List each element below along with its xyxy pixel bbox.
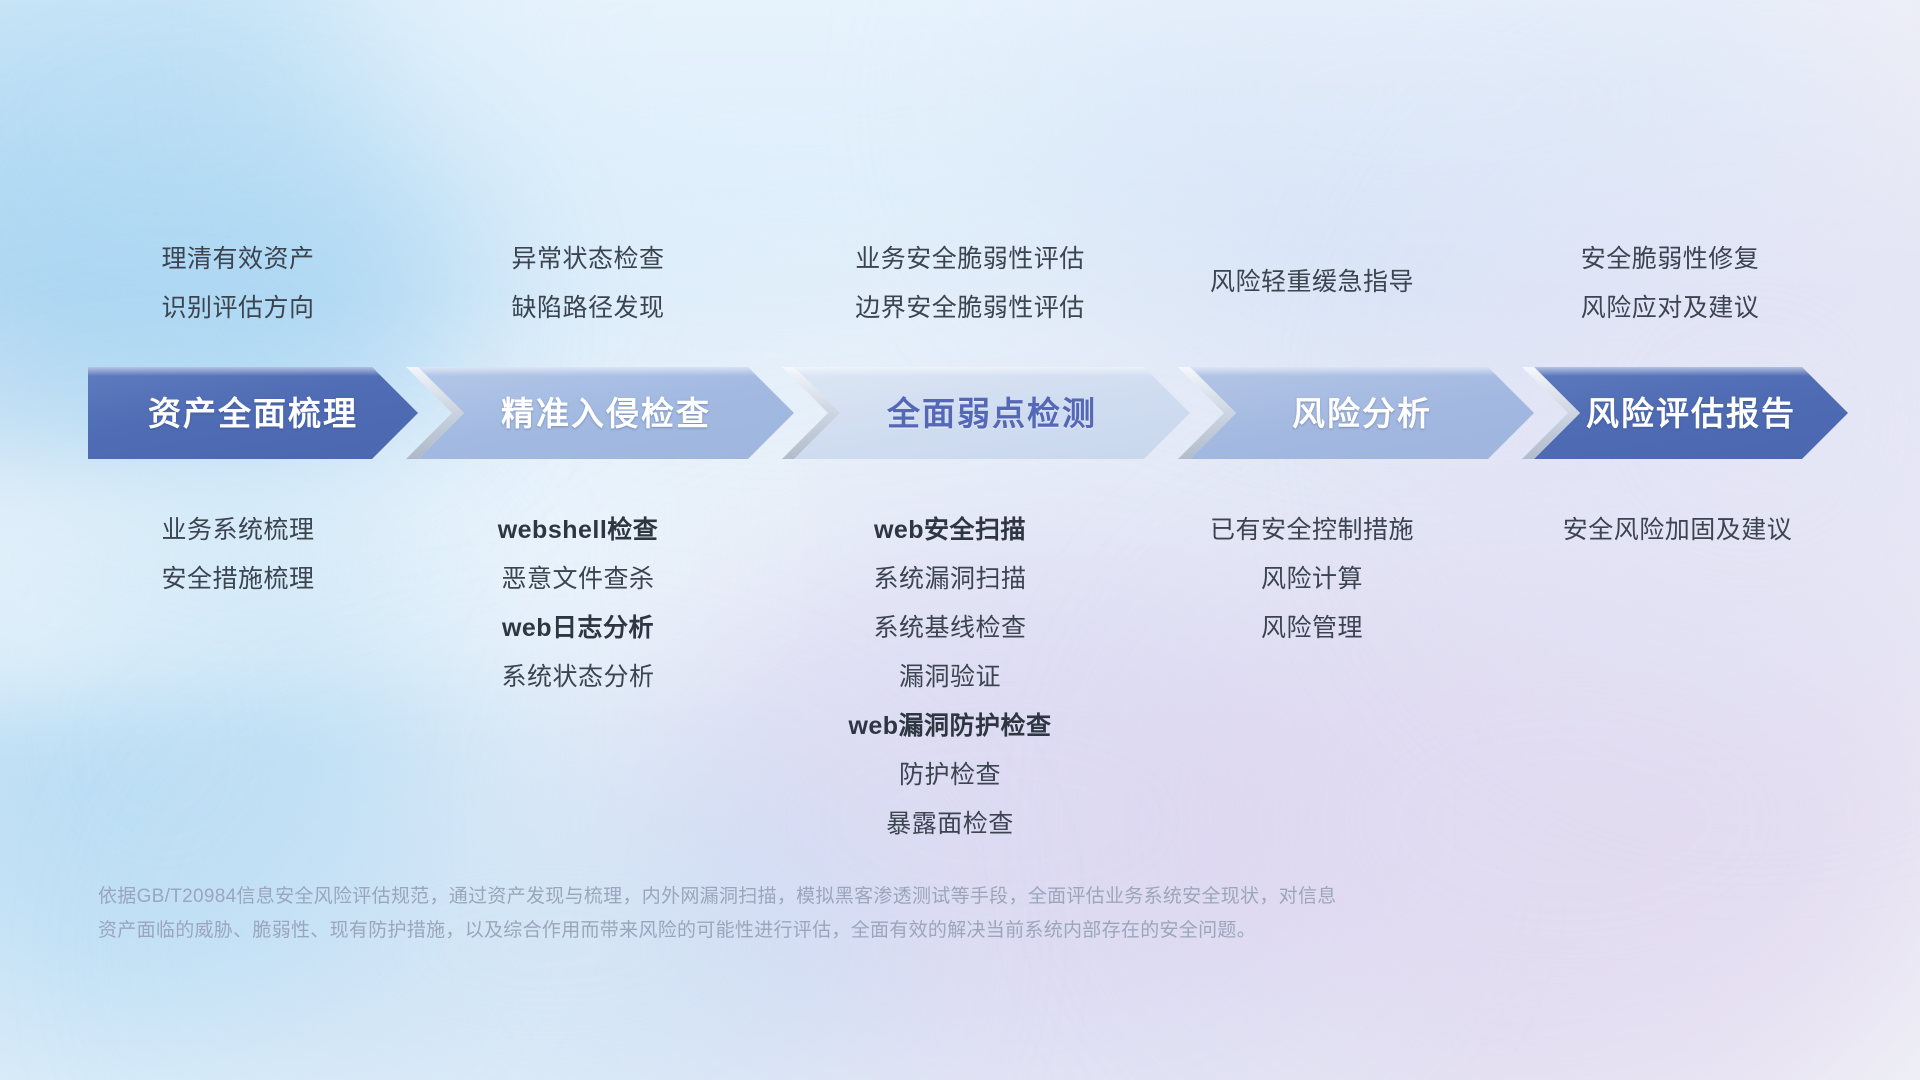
stage-chevron-4[interactable]: 风险分析 xyxy=(1190,367,1534,459)
stage-bottom-items-1: 业务系统梳理 安全措施梳理 xyxy=(88,518,388,592)
stage-label: 风险评估报告 xyxy=(1586,397,1796,430)
top-item: 业务安全脆弱性评估 xyxy=(790,247,1150,272)
stage-bottom-items-4: 已有安全控制措施 风险计算 风险管理 xyxy=(1152,518,1472,641)
bottom-item: 安全风险加固及建议 xyxy=(1505,518,1850,543)
process-chevron-band: 资产全面梳理 精准入侵检查 xyxy=(88,367,1848,459)
bottom-item: web漏洞防护检查 xyxy=(770,714,1130,739)
stage-chevron-5[interactable]: 风险评估报告 xyxy=(1534,367,1848,459)
bottom-item: 风险计算 xyxy=(1152,567,1472,592)
bottom-item: web安全扫描 xyxy=(770,518,1130,543)
chevron-gloss xyxy=(1534,367,1848,376)
top-item: 边界安全脆弱性评估 xyxy=(790,296,1150,321)
stage-label: 资产全面梳理 xyxy=(148,397,358,430)
stage-chevron-3[interactable]: 全面弱点检测 xyxy=(794,367,1190,459)
footer-description: 依据GB/T20984信息安全风险评估规范，通过资产发现与梳理，内外网漏洞扫描，… xyxy=(98,880,1618,948)
chevron-gloss xyxy=(88,367,418,376)
top-item: 识别评估方向 xyxy=(88,296,388,321)
stage-bottom-items-3: web安全扫描 系统漏洞扫描 系统基线检查 漏洞验证 web漏洞防护检查 防护检… xyxy=(770,518,1130,837)
bottom-item: webshell检查 xyxy=(418,518,738,543)
bottom-item: 系统状态分析 xyxy=(418,665,738,690)
stage-top-items-2: 异常状态检查 缺陷路径发现 xyxy=(438,247,738,321)
stage-chevron-2[interactable]: 精准入侵检查 xyxy=(418,367,794,459)
chevron-gloss xyxy=(1190,367,1534,376)
bottom-item: 风险管理 xyxy=(1152,616,1472,641)
stage-bottom-items-5: 安全风险加固及建议 xyxy=(1505,518,1850,543)
bottom-item: 漏洞验证 xyxy=(770,665,1130,690)
stage-top-items-1: 理清有效资产 识别评估方向 xyxy=(88,247,388,321)
bottom-item: 暴露面检查 xyxy=(770,812,1130,837)
process-diagram: 理清有效资产 识别评估方向 异常状态检查 缺陷路径发现 业务安全脆弱性评估 边界… xyxy=(0,0,1920,1080)
top-item: 缺陷路径发现 xyxy=(438,296,738,321)
stage-chevron-1[interactable]: 资产全面梳理 xyxy=(88,367,418,459)
stage-label: 精准入侵检查 xyxy=(501,397,711,430)
footer-line-1: 依据GB/T20984信息安全风险评估规范，通过资产发现与梳理，内外网漏洞扫描，… xyxy=(98,880,1618,914)
bottom-item: 安全措施梳理 xyxy=(88,567,388,592)
bottom-item: 业务系统梳理 xyxy=(88,518,388,543)
bottom-item: 防护检查 xyxy=(770,763,1130,788)
bottom-item: 系统漏洞扫描 xyxy=(770,567,1130,592)
bottom-item: 已有安全控制措施 xyxy=(1152,518,1472,543)
top-item: 异常状态检查 xyxy=(438,247,738,272)
footer-line-2: 资产面临的威胁、脆弱性、现有防护措施，以及综合作用而带来风险的可能性进行评估，全… xyxy=(98,914,1618,948)
chevron-gloss xyxy=(418,367,794,376)
chevron-gloss xyxy=(794,367,1190,376)
bottom-item: web日志分析 xyxy=(418,616,738,641)
stage-top-items-3: 业务安全脆弱性评估 边界安全脆弱性评估 xyxy=(790,247,1150,321)
stage-top-items-5: 安全脆弱性修复 风险应对及建议 xyxy=(1505,247,1835,321)
top-item: 安全脆弱性修复 xyxy=(1505,247,1835,272)
top-item: 风险应对及建议 xyxy=(1505,296,1835,321)
bottom-item: 系统基线检查 xyxy=(770,616,1130,641)
stage-top-items-4: 风险轻重缓急指导 xyxy=(1152,270,1472,295)
stage-label: 风险分析 xyxy=(1292,397,1432,430)
stage-bottom-items-2: webshell检查 恶意文件查杀 web日志分析 系统状态分析 xyxy=(418,518,738,690)
top-item: 风险轻重缓急指导 xyxy=(1152,270,1472,295)
top-item: 理清有效资产 xyxy=(88,247,388,272)
stage-label: 全面弱点检测 xyxy=(887,397,1097,430)
bottom-item: 恶意文件查杀 xyxy=(418,567,738,592)
